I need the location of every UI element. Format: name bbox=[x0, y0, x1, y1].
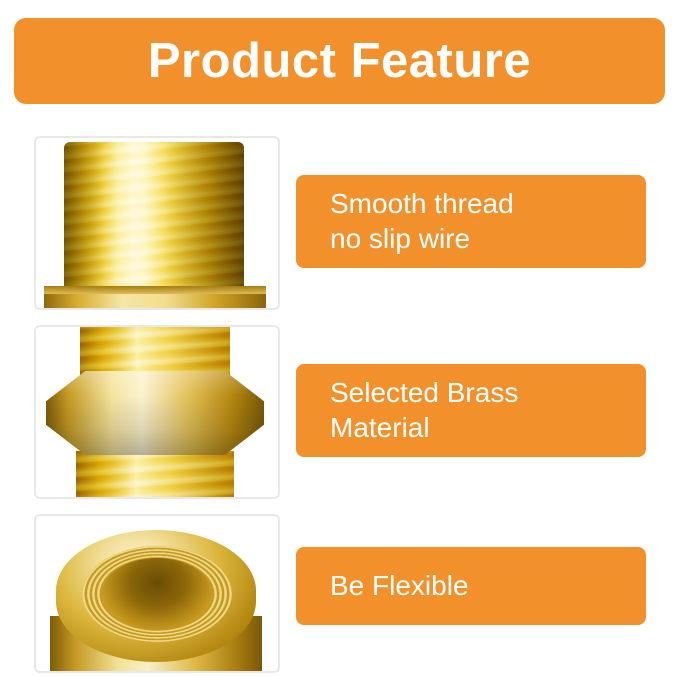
brass-bore-illustration bbox=[36, 516, 278, 671]
feature-image-3 bbox=[34, 514, 280, 673]
feature-image-3-frame bbox=[36, 516, 278, 671]
feature-label-1: Smooth thread no slip wire bbox=[330, 187, 514, 255]
feature-label-3: Be Flexible bbox=[330, 569, 469, 603]
product-feature-infographic: Product Feature Smooth thread no slip wi… bbox=[0, 0, 679, 676]
header-banner: Product Feature bbox=[14, 18, 665, 104]
feature-label-plate-3: Be Flexible bbox=[296, 547, 646, 625]
feature-row: Selected Brass Material bbox=[0, 325, 679, 495]
feature-row: Be Flexible bbox=[0, 514, 679, 669]
feature-image-1 bbox=[34, 136, 280, 310]
feature-row: Smooth thread no slip wire bbox=[0, 136, 679, 306]
thread-highlight-shape bbox=[64, 142, 244, 300]
feature-image-1-frame bbox=[36, 138, 278, 308]
feature-label-plate-1: Smooth thread no slip wire bbox=[296, 175, 646, 268]
lower-thread-shape bbox=[76, 451, 234, 497]
feature-label-2: Selected Brass Material bbox=[330, 376, 518, 444]
feature-image-2-frame bbox=[36, 327, 278, 497]
upper-thread-shape bbox=[80, 327, 230, 377]
hex-base-shape bbox=[44, 294, 266, 308]
brass-thread-illustration bbox=[36, 138, 278, 308]
page-title: Product Feature bbox=[148, 37, 531, 86]
feature-image-2 bbox=[34, 325, 280, 499]
bore-hole-shape bbox=[102, 558, 212, 630]
brass-hexnut-illustration bbox=[36, 327, 278, 497]
feature-label-plate-2: Selected Brass Material bbox=[296, 364, 646, 457]
hex-shading-shape bbox=[46, 371, 264, 455]
